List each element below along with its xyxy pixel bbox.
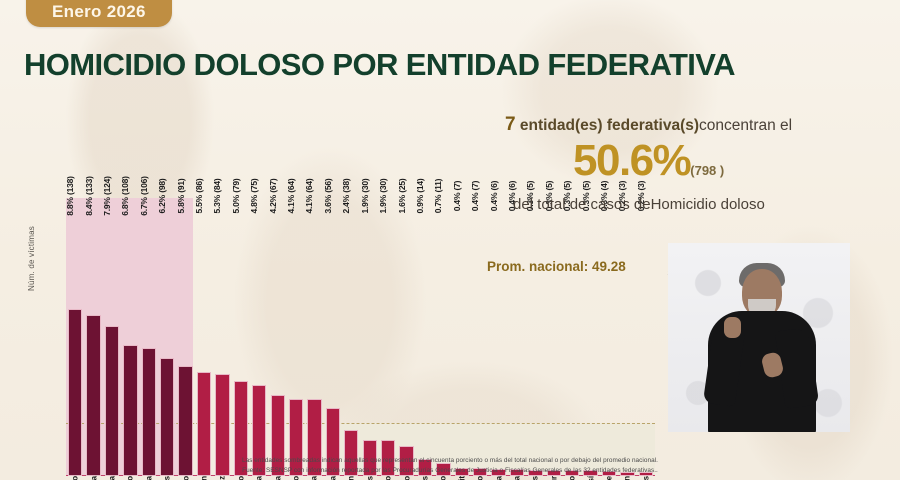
- bar-category-label: Aguascalientes: [531, 476, 540, 480]
- bar-value-label: 8.8% (138): [65, 176, 75, 216]
- sign-language-interpreter-video: [668, 243, 850, 432]
- bar-value-label: 5.5% (86): [194, 178, 204, 213]
- bar-value-label: 5.3% (84): [212, 178, 222, 213]
- bar-slot: 8.8% (138)Guanajuato: [66, 198, 84, 476]
- concentrate-text: concentran el: [699, 117, 792, 134]
- bar-category-label: Jalisco: [236, 476, 245, 480]
- bar-value-label: 2.4% (38): [341, 178, 351, 213]
- plot-region: 8.8% (138)Guanajuato8.4% (133)Baja Calif…: [66, 198, 655, 476]
- entities-count: 7: [505, 114, 516, 135]
- bar-value-label: 1.6% (25): [397, 178, 407, 213]
- bar-category-label: Coahuila: [494, 476, 503, 480]
- bar-value-label: 4.1% (64): [286, 178, 296, 213]
- bar-slot: 0.9% (14)Tamaulipas: [416, 198, 434, 476]
- bar-slot: 5.3% (84)Veracruz: [213, 198, 231, 476]
- of-total-text: del total de casos de: [513, 196, 651, 213]
- stat-headline: 7 entidad(es) federativa(s)concentran el: [505, 114, 792, 136]
- y-axis-title: Núm. de víctimas: [27, 226, 36, 291]
- bar-category-label: Guanajuato: [71, 476, 80, 480]
- footnote-line-1: Las entidades sombreadas indican aquella…: [0, 456, 900, 466]
- bar-slot: 4.1% (64)Ciudad de México: [287, 198, 305, 476]
- bar-category-label: Tamaulipas: [420, 476, 429, 480]
- bar-category-label: Nuevo León: [347, 476, 356, 480]
- bar-slot: 0.4% (7)Querétaro: [471, 198, 489, 476]
- bar-category-label: Campeche: [604, 476, 613, 480]
- bar-slot: 0.2% (3)Yucatán: [618, 198, 636, 476]
- bar-slot: 6.8% (108)Estado de México: [121, 198, 139, 476]
- bar-category-label: Tlaxcala: [512, 476, 521, 480]
- bar-category-label: Estado de México: [126, 476, 135, 480]
- national-average-label: Prom. nacional: 49.28: [487, 259, 626, 274]
- bar-category-label: Sonora: [255, 476, 264, 480]
- bar-value-label: 6.8% (108): [120, 176, 130, 216]
- footnote: Las entidades sombreadas indican aquella…: [0, 456, 900, 476]
- bar-category-label: Guerrero: [181, 476, 190, 480]
- bar-slot: 4.1% (64)Oaxaca: [305, 198, 323, 476]
- bar-value-label: 0.9% (14): [415, 178, 425, 213]
- bar-slot: 8.4% (133)Baja California: [84, 198, 102, 476]
- bar-slot: 0.4% (6)Coahuila: [489, 198, 507, 476]
- bar-value-label: 1.9% (30): [378, 178, 388, 213]
- bar-value-label: 5.8% (91): [176, 178, 186, 213]
- bar-category-label: Chihuahua: [108, 476, 117, 480]
- interpreter-left-hand: [724, 317, 741, 338]
- bar[interactable]: 8.8% (138): [68, 309, 82, 476]
- bar-value-label: 4.8% (75): [249, 178, 259, 213]
- bar-category-label: Zacatecas: [641, 476, 650, 480]
- bar-slot: 0.3% (5)Aguascalientes: [526, 198, 544, 476]
- bar-value-label: 1.9% (30): [360, 178, 370, 213]
- bar-category-label: Michoacán: [200, 476, 209, 480]
- bar-value-label: 6.7% (106): [139, 176, 149, 216]
- bar-category-label: Chiapas: [365, 476, 374, 480]
- bar-slot: 0.3% (5)Durango: [563, 198, 581, 476]
- bar-category-label: Baja California Sur: [549, 476, 558, 480]
- bar-category-label: Colima: [328, 476, 337, 480]
- bar-group: 8.8% (138)Guanajuato8.4% (133)Baja Calif…: [66, 198, 655, 476]
- bar-value-label: 3.6% (56): [323, 178, 333, 213]
- bar-slot: 4.8% (75)Sonora: [250, 198, 268, 476]
- bar-value-label: 4.1% (64): [304, 178, 314, 213]
- bar-slot: 5.5% (86)Michoacán: [195, 198, 213, 476]
- bar-value-label: 8.4% (133): [84, 176, 94, 216]
- bar-category-label: Yucatán: [623, 476, 632, 480]
- bar-slot: 2.4% (38)Nuevo León: [342, 198, 360, 476]
- bar-slot: 1.9% (30)Chiapas: [361, 198, 379, 476]
- bar-slot: 0.4% (7)Nayarit: [453, 198, 471, 476]
- bar-category-label: San Luis Potosí: [586, 476, 595, 480]
- bar-category-label: Tabasco: [384, 476, 393, 480]
- bar-slot: 0.3% (4)Campeche: [600, 198, 618, 476]
- bar-value-label: 6.2% (98): [157, 178, 167, 213]
- bar-slot: 6.2% (98)Morelos: [158, 198, 176, 476]
- bar-value-label: 7.9% (124): [102, 176, 112, 216]
- bar-slot: 0.3% (5)San Luis Potosí: [581, 198, 599, 476]
- bar-slot: 6.7% (106)Sinaloa: [140, 198, 158, 476]
- percent-highlight: 50.6%(798 ): [573, 136, 724, 186]
- bar-category-label: Baja California: [89, 476, 98, 480]
- bar-value-label: 0.7% (11): [433, 179, 443, 214]
- bar-value-label: 0.4% (7): [452, 181, 462, 212]
- bar-category-label: Oaxaca: [310, 476, 319, 480]
- bar-category-label: Durango: [568, 476, 577, 480]
- footnote-line-2: Fuente: SESNSP con información reportada…: [0, 466, 900, 476]
- bar-slot: 0.7% (11)Quintana Roo: [434, 198, 452, 476]
- cases-count: (798 ): [690, 163, 724, 178]
- percent-value: 50.6%: [573, 136, 690, 185]
- bar[interactable]: 7.9% (124): [105, 326, 119, 476]
- bar-category-label: Veracruz: [218, 476, 227, 480]
- bar-slot: 4.2% (67)Puebla: [268, 198, 286, 476]
- bar-category-label: Querétaro: [476, 476, 485, 480]
- bar-slot: 0.4% (6)Tlaxcala: [508, 198, 526, 476]
- bar-category-label: Hidalgo: [402, 476, 411, 480]
- bar-category-label: Morelos: [163, 476, 172, 480]
- page-title: HOMICIDIO DOLOSO POR ENTIDAD FEDERATIVA: [24, 47, 735, 83]
- month-badge: Enero 2026: [26, 0, 172, 27]
- bar-category-label: Sinaloa: [144, 476, 153, 480]
- bar-category-label: Nayarit: [457, 476, 466, 480]
- crime-name: Homicidio doloso: [651, 196, 765, 213]
- bar-slot: 7.9% (124)Chihuahua: [103, 198, 121, 476]
- bar-value-label: 0.4% (7): [470, 181, 480, 212]
- bar-value-label: 5.0% (79): [231, 178, 241, 213]
- bar-slot: 5.0% (79)Jalisco: [232, 198, 250, 476]
- bar[interactable]: 8.4% (133): [86, 315, 100, 476]
- bar-category-label: Puebla: [273, 476, 282, 480]
- entities-label: entidad(es) federativa(s): [516, 117, 699, 134]
- bar-value-label: 0.4% (6): [489, 181, 499, 212]
- bar-slot: 1.6% (25)Hidalgo: [397, 198, 415, 476]
- bar-slot: 1.9% (30)Tabasco: [379, 198, 397, 476]
- bar-category-label: Ciudad de México: [292, 476, 301, 480]
- bar-slot: 0.3% (5)Baja California Sur: [545, 198, 563, 476]
- bar-category-label: Quintana Roo: [439, 476, 448, 480]
- bar-slot: 0.2% (3)Zacatecas: [637, 198, 655, 476]
- bar-slot: 3.6% (56)Colima: [324, 198, 342, 476]
- stat-subline: del total de casos deHomicidio doloso: [513, 196, 765, 213]
- bar-value-label: 4.2% (67): [268, 178, 278, 213]
- bar-slot: 5.8% (91)Guerrero: [176, 198, 194, 476]
